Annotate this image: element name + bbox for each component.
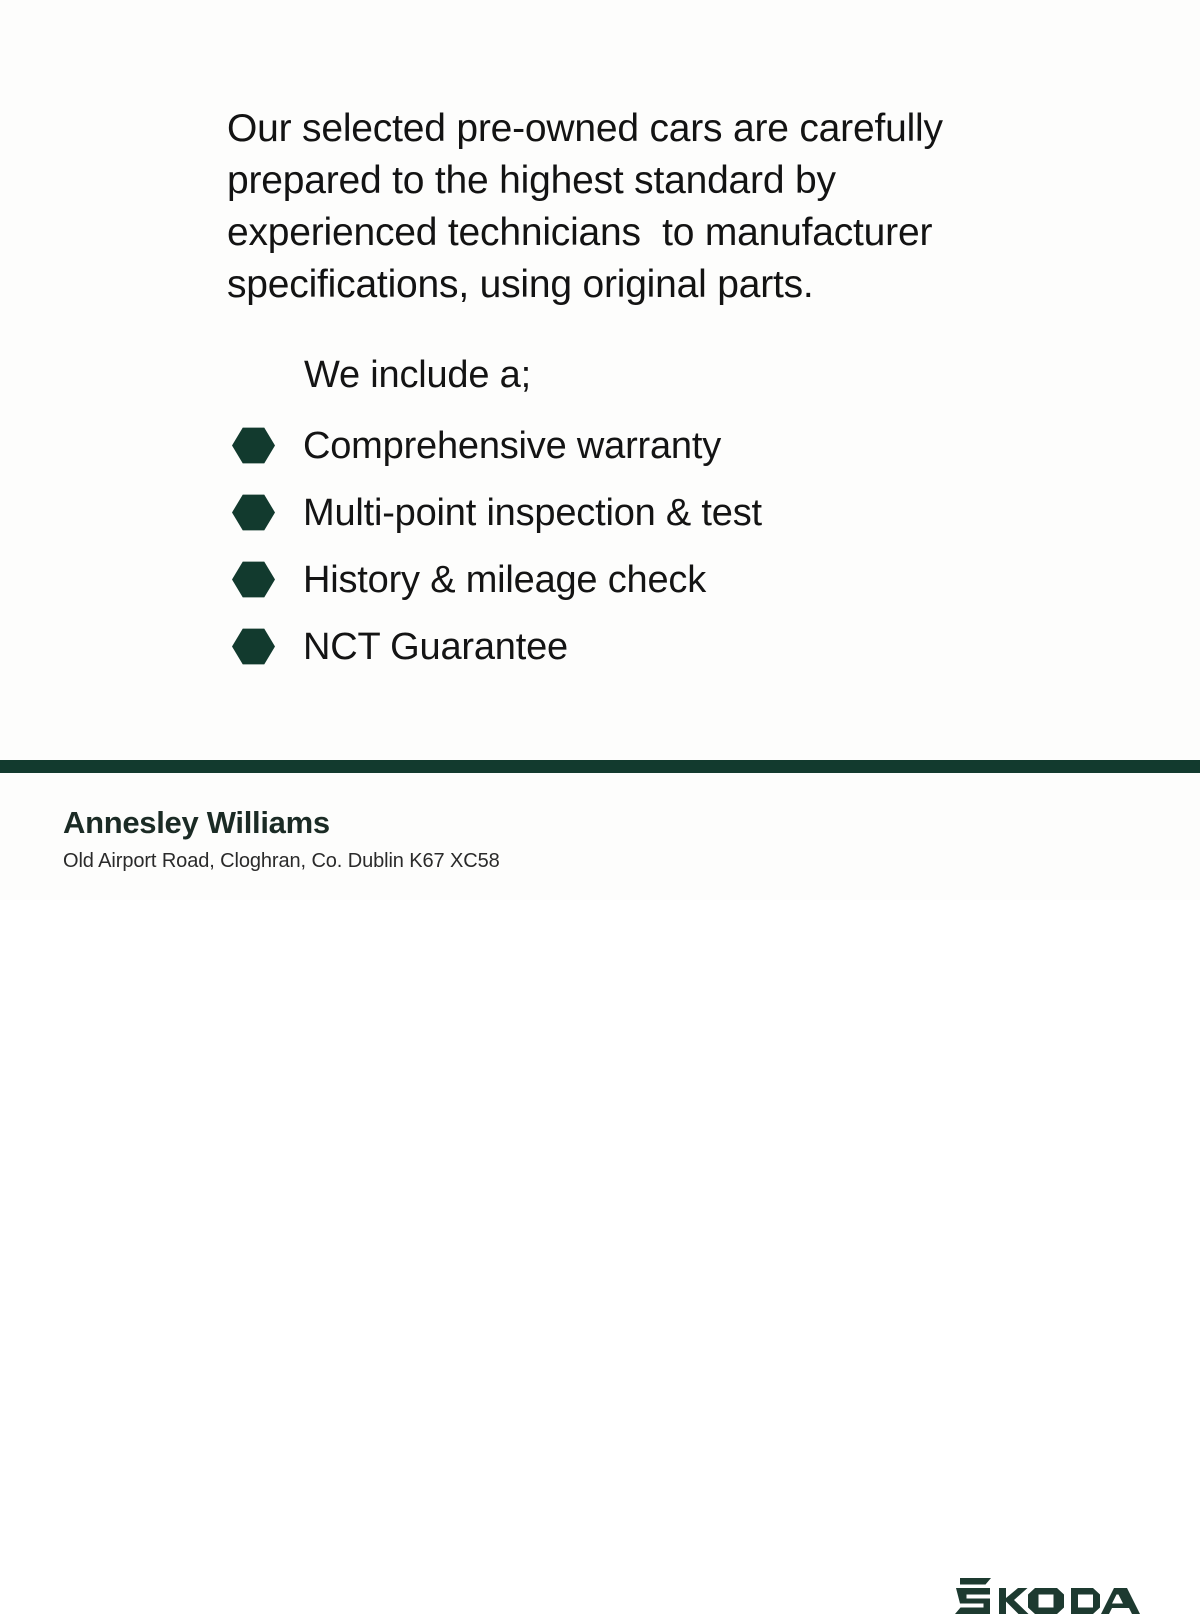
list-item: Multi-point inspection & test [232, 479, 992, 546]
benefit-label: Multi-point inspection & test [303, 491, 762, 535]
intro-line-3: experienced technicians to manufacturer [227, 207, 1017, 259]
intro-line-4: specifications, using original parts. [227, 259, 1017, 311]
footer: Annesley Williams Old Airport Road, Clog… [0, 773, 1200, 900]
hexagon-bullet-icon [232, 494, 275, 532]
intro-line-2: prepared to the highest standard by [227, 155, 1017, 207]
list-item: NCT Guarantee [232, 613, 992, 680]
hexagon-bullet-icon [232, 427, 275, 465]
benefit-label: NCT Guarantee [303, 625, 568, 669]
benefit-label: History & mileage check [303, 558, 706, 602]
hexagon-bullet-icon [232, 628, 275, 666]
list-item: History & mileage check [232, 546, 992, 613]
intro-paragraph: Our selected pre-owned cars are carefull… [227, 103, 1017, 311]
footer-divider-rule [0, 760, 1200, 773]
benefit-label: Comprehensive warranty [303, 424, 721, 468]
promo-slide: Our selected pre-owned cars are carefull… [0, 0, 1200, 900]
hexagon-bullet-icon [232, 561, 275, 599]
intro-line-1: Our selected pre-owned cars are carefull… [227, 103, 1017, 155]
include-lead-text: We include a; [304, 352, 531, 398]
dealer-address: Old Airport Road, Cloghran, Co. Dublin K… [63, 849, 500, 873]
benefits-list: Comprehensive warranty Multi-point inspe… [232, 412, 992, 680]
list-item: Comprehensive warranty [232, 412, 992, 479]
dealer-details: Annesley Williams Old Airport Road, Clog… [63, 805, 500, 873]
dealer-name: Annesley Williams [63, 805, 500, 841]
skoda-wordmark-logo: ŠKODA [955, 1575, 1141, 1617]
